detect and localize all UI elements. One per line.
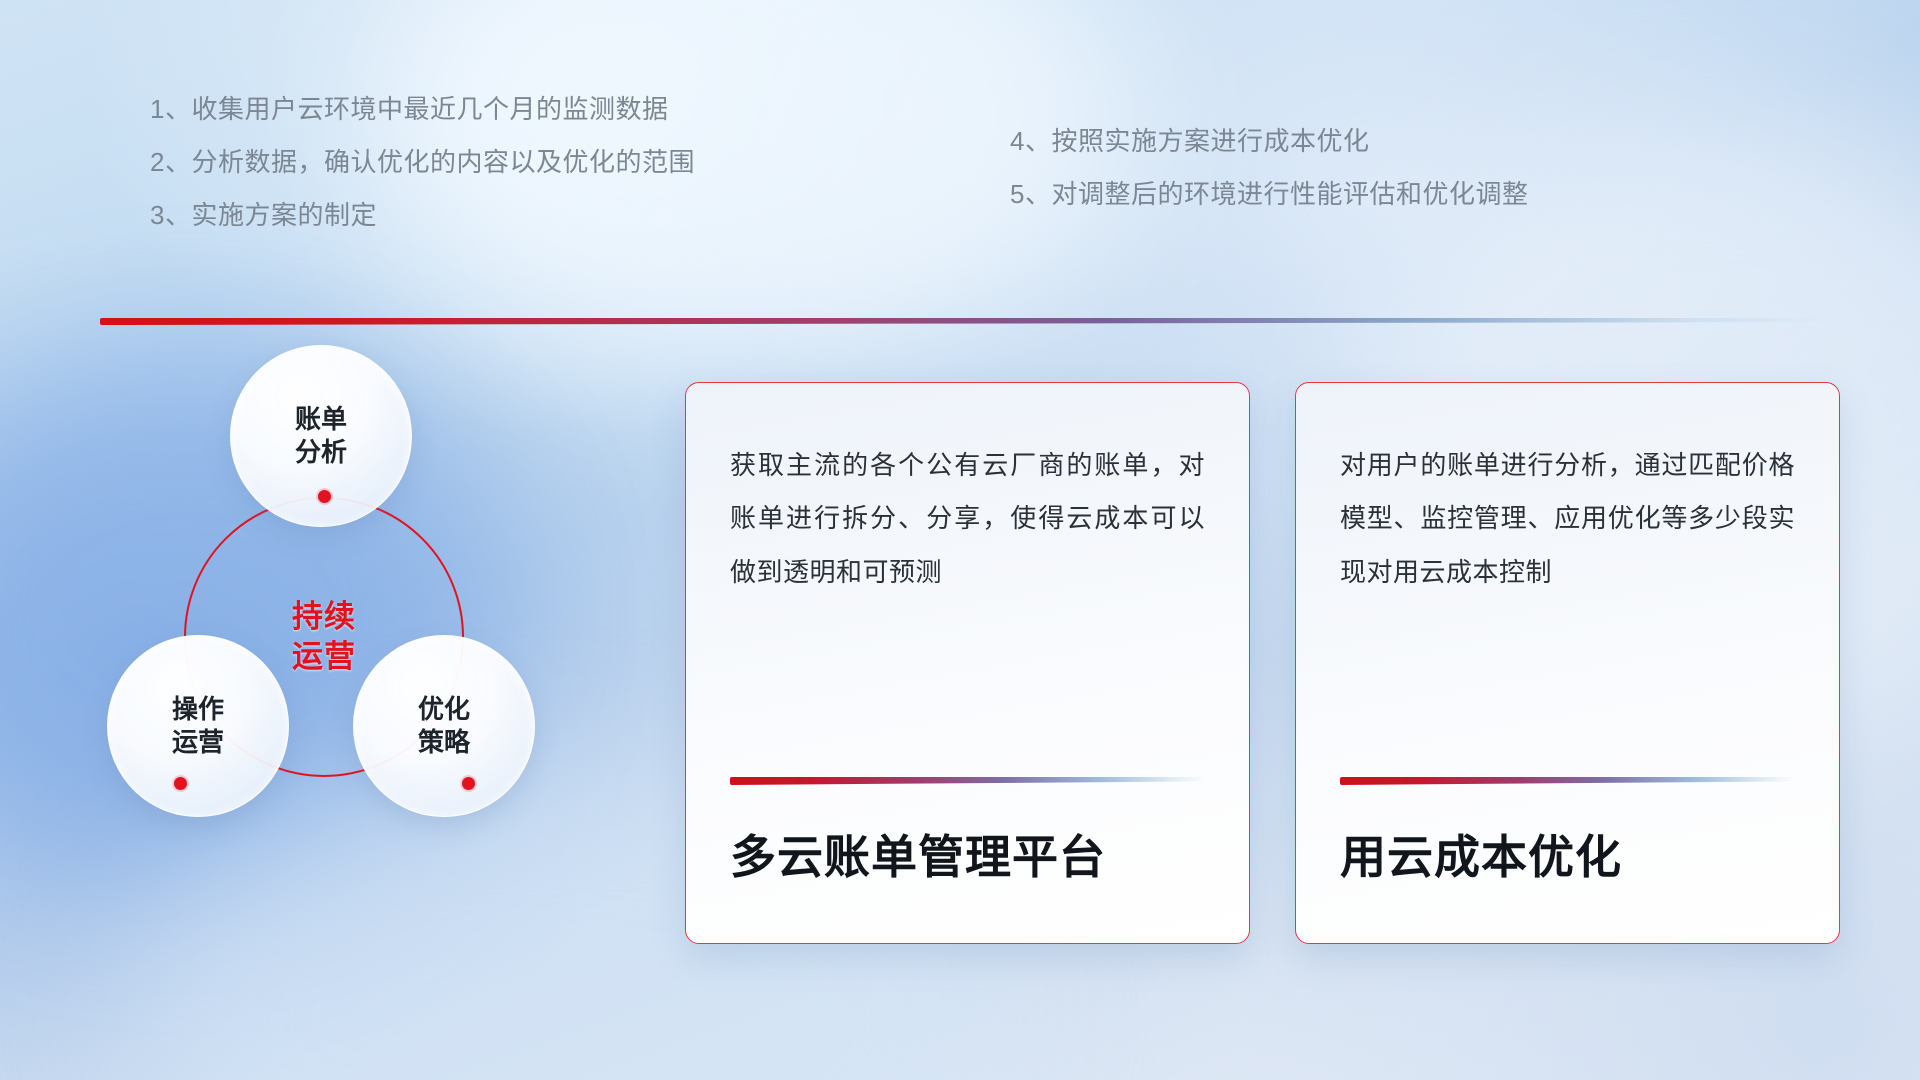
connector-dot-icon: [462, 777, 475, 790]
feature-card-cost-optimization[interactable]: 对用户的账单进行分析，通过匹配价格模型、监控管理、应用优化等多少段实现对用云成本…: [1295, 382, 1840, 944]
feature-card-body: 对用户的账单进行分析，通过匹配价格模型、监控管理、应用优化等多少段实现对用云成本…: [1340, 439, 1795, 599]
continuous-operation-diagram: 账单 分析 操作 运营 优化 策略 持续 运营: [100, 345, 620, 945]
diagram-center-label-line2: 运营: [292, 637, 356, 677]
process-step-item: 1、收集用户云环境中最近几个月的监测数据: [150, 96, 695, 122]
section-divider: [100, 318, 1830, 325]
feature-card-multicloud-billing[interactable]: 获取主流的各个公有云厂商的账单，对账单进行拆分、分享，使得云成本可以做到透明和可…: [685, 382, 1250, 944]
process-step-item: 4、按照实施方案进行成本优化: [1010, 128, 1528, 154]
process-step-column-left: 1、收集用户云环境中最近几个月的监测数据 2、分析数据，确认优化的内容以及优化的…: [150, 96, 695, 255]
diagram-node-label-line1: 账单: [295, 403, 347, 436]
process-step-item: 5、对调整后的环境进行性能评估和优化调整: [1010, 181, 1528, 207]
feature-card-rule: [1340, 777, 1795, 785]
feature-card-title: 多云账单管理平台: [730, 821, 1205, 887]
feature-card-title: 用云成本优化: [1340, 821, 1795, 887]
process-step-item: 3、实施方案的制定: [150, 202, 695, 228]
diagram-node-label-line2: 分析: [295, 436, 347, 469]
connector-dot-icon: [174, 777, 187, 790]
process-step-column-right: 4、按照实施方案进行成本优化 5、对调整后的环境进行性能评估和优化调整: [1010, 128, 1528, 234]
process-step-item: 2、分析数据，确认优化的内容以及优化的范围: [150, 149, 695, 175]
diagram-center-label-line1: 持续: [292, 597, 356, 637]
slide-canvas: 1、收集用户云环境中最近几个月的监测数据 2、分析数据，确认优化的内容以及优化的…: [0, 0, 1920, 1080]
feature-card-rule: [730, 777, 1205, 785]
diagram-center-label: 持续 运营: [184, 497, 464, 777]
feature-card-body: 获取主流的各个公有云厂商的账单，对账单进行拆分、分享，使得云成本可以做到透明和可…: [730, 439, 1205, 599]
connector-dot-icon: [318, 490, 331, 503]
